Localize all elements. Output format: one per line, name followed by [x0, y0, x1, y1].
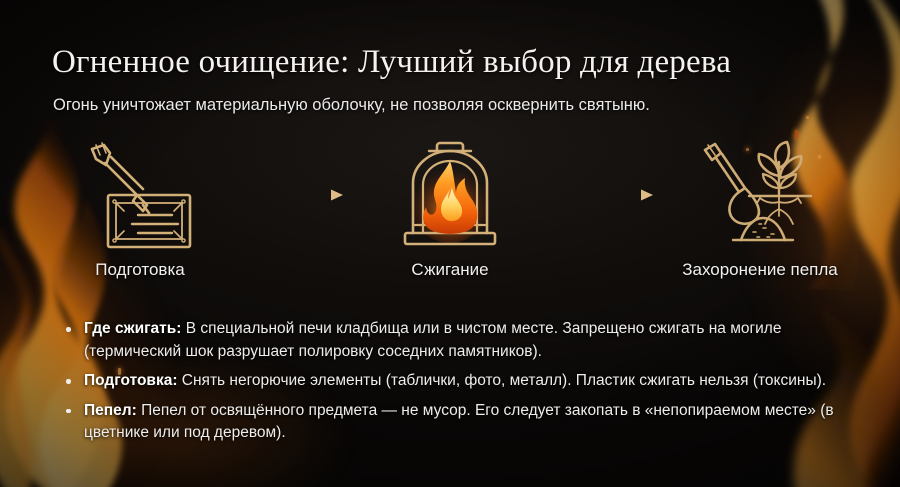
- bullet-term: Подготовка:: [84, 372, 178, 389]
- arrow-right-icon: [545, 136, 665, 254]
- step-label: Захоронение пепла: [682, 260, 838, 280]
- slide-title: Огненное очищение: Лучший выбор для дере…: [52, 43, 852, 81]
- furnace-fire-icon: [395, 136, 505, 254]
- bullet-list: Где сжигать: В специальной печи кладбища…: [62, 318, 862, 445]
- screwdriver-plaque-icon: [78, 136, 202, 254]
- slide-canvas: Огненное очищение: Лучший выбор для дере…: [0, 0, 900, 487]
- step-label: Подготовка: [95, 260, 184, 280]
- arrow-right-icon: [235, 136, 355, 254]
- slide-subtitle: Огонь уничтожает материальную оболочку, …: [53, 94, 873, 116]
- bullet-term: Где сжигать:: [84, 320, 181, 337]
- bullet-text: Снять негорючие элементы (таблички, фото…: [178, 372, 827, 389]
- bullet-dot: [66, 327, 71, 332]
- process-steps: Подготовка: [52, 136, 848, 304]
- bullet-term: Пепел:: [84, 402, 137, 419]
- step-label: Сжигание: [411, 260, 488, 280]
- step-ash-burial: Захоронение пепла: [672, 136, 848, 280]
- step-burning: Сжигание: [362, 136, 538, 280]
- bullet-text: В специальной печи кладбища или в чистом…: [84, 320, 781, 360]
- step-preparation: Подготовка: [52, 136, 228, 280]
- slide-content: Огненное очищение: Лучший выбор для дере…: [0, 0, 900, 487]
- bullet-dot: [66, 379, 71, 384]
- bullet-dot: [66, 409, 71, 414]
- list-item: Где сжигать: В специальной печи кладбища…: [62, 318, 862, 363]
- list-item: Пепел: Пепел от освящённого предмета — н…: [62, 400, 862, 445]
- list-item: Подготовка: Снять негорючие элементы (та…: [62, 370, 862, 393]
- bullet-text: Пепел от освящённого предмета — не мусор…: [84, 402, 834, 442]
- shovel-plant-icon: [697, 136, 823, 254]
